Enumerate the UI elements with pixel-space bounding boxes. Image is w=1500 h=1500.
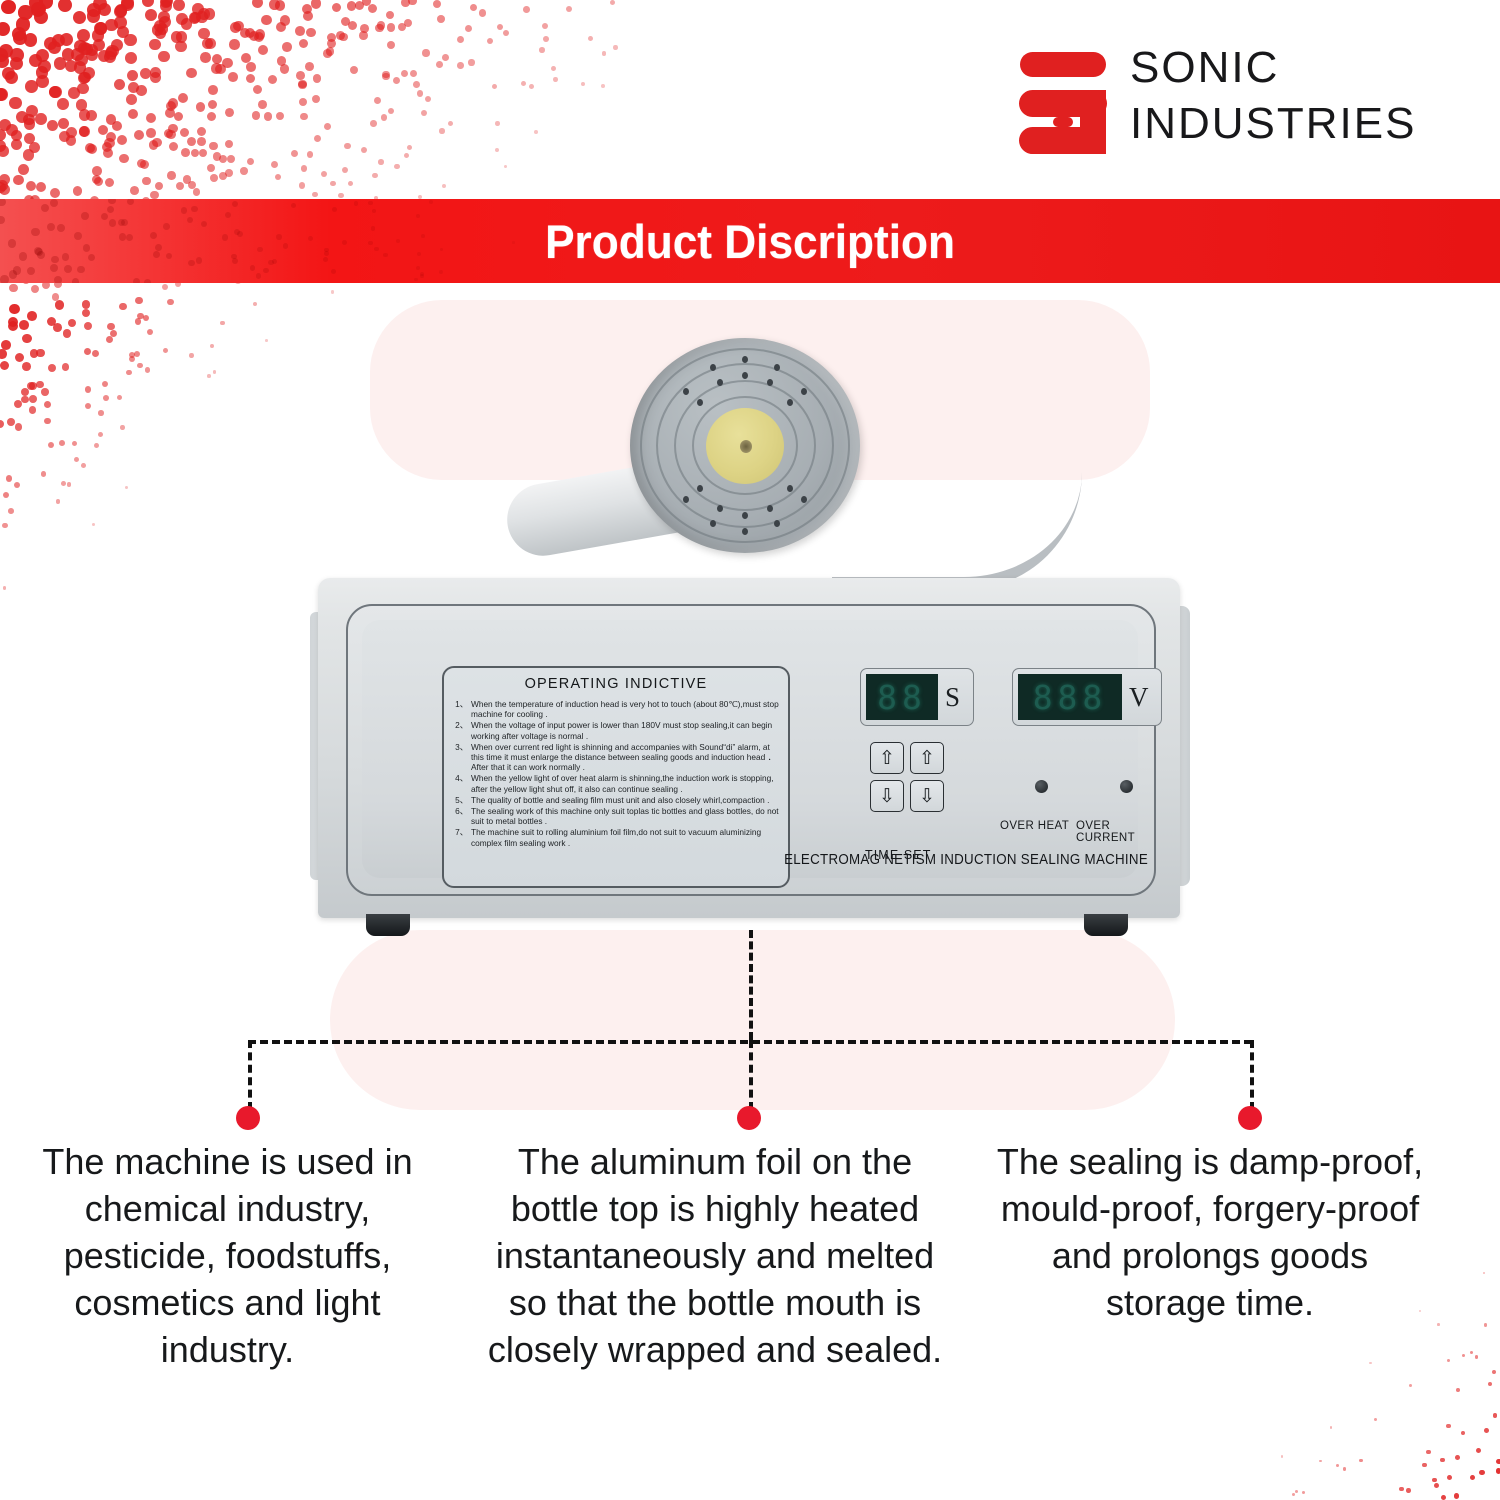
decorative-dot bbox=[5, 71, 18, 84]
instruction-item: 3、When over current red light is shinnin… bbox=[452, 742, 780, 773]
decorative-dot bbox=[62, 48, 75, 61]
decorative-dot bbox=[330, 181, 336, 187]
halftone-dots-mid-left bbox=[0, 300, 330, 600]
decorative-dot bbox=[306, 28, 315, 37]
decorative-dot bbox=[14, 400, 22, 408]
decorative-dot bbox=[275, 174, 282, 181]
decorative-dot bbox=[439, 270, 443, 274]
decorative-dot bbox=[163, 223, 170, 230]
head-vent-hole bbox=[742, 512, 748, 519]
time-set-buttons[interactable]: ⇧ ⇧ ⇩ ⇩ bbox=[870, 742, 962, 834]
decorative-dot bbox=[298, 80, 306, 88]
over-heat-label: OVER HEAT bbox=[1000, 820, 1069, 832]
decorative-dot bbox=[94, 177, 103, 186]
head-vent-hole bbox=[717, 505, 723, 512]
decorative-dot bbox=[362, 0, 371, 6]
decorative-dot bbox=[29, 382, 37, 390]
decorative-dot bbox=[109, 219, 116, 226]
decorative-dot bbox=[0, 199, 6, 206]
decorative-dot bbox=[22, 334, 31, 343]
feature-text-3: The sealing is damp-proof, mould-proof, … bbox=[993, 1138, 1427, 1326]
decorative-dot bbox=[51, 256, 59, 264]
decorative-dot bbox=[276, 22, 286, 32]
decorative-dot bbox=[143, 315, 150, 322]
decorative-dot bbox=[68, 319, 77, 328]
decorative-dot bbox=[105, 47, 117, 59]
decorative-dot bbox=[421, 110, 427, 116]
decorative-dot bbox=[56, 499, 61, 504]
decorative-dot bbox=[137, 159, 146, 168]
decorative-dot bbox=[440, 248, 444, 252]
decorative-dot bbox=[377, 21, 386, 30]
decorative-dot bbox=[6, 124, 18, 136]
decorative-dot bbox=[371, 226, 375, 230]
decorative-dot bbox=[331, 269, 336, 274]
decorative-dot bbox=[36, 381, 44, 389]
decorative-dot bbox=[436, 61, 443, 68]
decorative-dot bbox=[271, 161, 278, 168]
decorative-dot bbox=[336, 31, 345, 40]
decorative-dot bbox=[57, 98, 69, 110]
decorative-dot bbox=[23, 114, 35, 126]
decorative-dot bbox=[8, 508, 14, 514]
decorative-dot bbox=[553, 77, 558, 82]
decorative-dot bbox=[339, 33, 348, 42]
decorative-dot bbox=[299, 182, 305, 188]
machine-body: OPERATING INDICTIVE 1、When the temperatu… bbox=[318, 578, 1180, 918]
decorative-dot bbox=[0, 184, 10, 195]
instruction-text: When the temperature of induction head i… bbox=[471, 699, 780, 719]
decorative-dot bbox=[71, 48, 84, 61]
decorative-dot bbox=[106, 45, 118, 57]
decorative-dot bbox=[323, 257, 328, 262]
decorative-dot bbox=[197, 137, 206, 146]
decorative-dot bbox=[220, 321, 224, 325]
decorative-dot bbox=[207, 112, 216, 121]
decorative-dot bbox=[457, 36, 464, 43]
decorative-dot bbox=[10, 57, 23, 70]
instruction-item: 1、When the temperature of induction head… bbox=[452, 699, 780, 719]
decorative-dot bbox=[176, 31, 187, 42]
decorative-dot bbox=[78, 42, 91, 55]
callout-marker-2 bbox=[737, 1106, 761, 1130]
decorative-dot bbox=[158, 11, 170, 23]
decorative-dot bbox=[166, 253, 173, 260]
decorative-dot bbox=[174, 112, 184, 122]
decorative-dot bbox=[0, 216, 5, 224]
decorative-dot bbox=[280, 15, 290, 25]
decorative-dot bbox=[102, 381, 108, 387]
decorative-dot bbox=[67, 482, 72, 487]
decorative-dot bbox=[291, 203, 296, 208]
callout-marker-1 bbox=[236, 1106, 260, 1130]
decorative-dot bbox=[394, 164, 399, 169]
decorative-dot bbox=[1, 0, 16, 14]
decorative-dot bbox=[25, 80, 38, 93]
decorative-dot bbox=[135, 318, 142, 325]
decorative-dot bbox=[332, 3, 342, 13]
decorative-dot bbox=[52, 293, 60, 301]
decorative-dot bbox=[198, 8, 210, 20]
decorative-dot bbox=[87, 9, 100, 22]
time-display-value: 88 bbox=[877, 681, 927, 714]
decorative-dot bbox=[240, 167, 247, 174]
decorative-dot bbox=[13, 175, 24, 186]
decorative-dot bbox=[534, 130, 538, 134]
decorative-dot bbox=[355, 1, 364, 10]
decorative-dot bbox=[210, 344, 214, 348]
decorative-dot bbox=[276, 234, 281, 239]
over-heat-lamp-icon bbox=[1035, 780, 1048, 793]
decorative-dot bbox=[187, 137, 196, 146]
decorative-dot bbox=[53, 323, 62, 332]
decorative-dot bbox=[8, 317, 18, 327]
decorative-dot bbox=[613, 45, 617, 49]
decorative-dot bbox=[425, 96, 431, 102]
decorative-dot bbox=[175, 41, 186, 52]
decorative-dot bbox=[8, 239, 16, 247]
decorative-dot bbox=[35, 113, 47, 125]
decorative-dot bbox=[283, 243, 288, 248]
decorative-dot bbox=[178, 93, 188, 103]
decorative-dot bbox=[1432, 1478, 1437, 1483]
decorative-dot bbox=[117, 135, 127, 145]
head-vent-hole bbox=[710, 364, 716, 371]
decorative-dot bbox=[181, 18, 193, 30]
decorative-dot bbox=[258, 100, 267, 109]
instructions-title: OPERATING INDICTIVE bbox=[452, 676, 780, 692]
decorative-dot bbox=[154, 20, 166, 32]
induction-sealing-head bbox=[480, 330, 1100, 600]
decorative-dot bbox=[291, 150, 298, 157]
decorative-dot bbox=[201, 221, 207, 227]
decorative-dot bbox=[348, 181, 354, 187]
instruction-number: 4、 bbox=[452, 773, 471, 793]
decorative-dot bbox=[8, 321, 18, 331]
decorative-dot bbox=[104, 138, 114, 148]
decorative-dot bbox=[207, 164, 215, 172]
decorative-dot bbox=[168, 124, 177, 133]
decorative-dot bbox=[36, 182, 46, 192]
decorative-dot bbox=[63, 329, 71, 337]
decorative-dot bbox=[398, 23, 406, 31]
decorative-dot bbox=[208, 85, 218, 95]
decorative-dot bbox=[0, 349, 7, 359]
decorative-dot bbox=[21, 396, 29, 404]
decorative-dot bbox=[34, 10, 48, 24]
decorative-dot bbox=[168, 98, 178, 108]
callout-bracket bbox=[0, 930, 1500, 1120]
decorative-dot bbox=[66, 127, 77, 138]
time-up-2-button[interactable]: ⇧ bbox=[910, 742, 944, 774]
decorative-dot bbox=[26, 181, 36, 191]
decorative-dot bbox=[146, 113, 156, 123]
machine-model-strip: ELECTROMAG NETISM INDUCTION SEALING MACH… bbox=[559, 852, 1148, 868]
decorative-dot bbox=[68, 87, 80, 99]
feature-text-2: The aluminum foil on the bottle top is h… bbox=[473, 1138, 957, 1373]
decorative-dot bbox=[404, 153, 409, 158]
decorative-dot bbox=[121, 0, 134, 11]
decorative-dot bbox=[3, 586, 7, 590]
decorative-dot bbox=[566, 6, 572, 12]
voltage-display-value: 888 bbox=[1033, 681, 1108, 714]
decorative-dot bbox=[145, 9, 157, 21]
decorative-dot bbox=[465, 25, 472, 32]
decorative-dot bbox=[163, 348, 168, 353]
decorative-dot bbox=[26, 105, 38, 117]
decorative-dot bbox=[312, 192, 318, 198]
decorative-dot bbox=[167, 299, 173, 305]
decorative-dot bbox=[344, 143, 350, 149]
decorative-dot bbox=[311, 0, 321, 9]
decorative-dot bbox=[354, 201, 359, 206]
decorative-dot bbox=[36, 75, 49, 88]
decorative-dot bbox=[55, 300, 64, 309]
head-vent-hole bbox=[801, 496, 807, 503]
decorative-dot bbox=[350, 66, 358, 74]
decorative-dot bbox=[542, 23, 548, 29]
decorative-dot bbox=[280, 64, 289, 73]
decorative-dot bbox=[62, 363, 70, 371]
decorative-dot bbox=[232, 201, 238, 207]
decorative-dot bbox=[213, 152, 221, 160]
decorative-dot bbox=[196, 257, 202, 263]
instruction-text: The sealing work of this machine only su… bbox=[471, 806, 780, 826]
decorative-dot bbox=[368, 241, 372, 245]
decorative-dot bbox=[225, 108, 234, 117]
decorative-dot bbox=[374, 97, 381, 104]
decorative-dot bbox=[27, 267, 35, 275]
decorative-dot bbox=[261, 15, 271, 25]
decorative-dot bbox=[1319, 1460, 1322, 1463]
decorative-dot bbox=[9, 97, 21, 109]
decorative-dot bbox=[0, 174, 10, 185]
decorative-dot bbox=[503, 30, 509, 36]
bracket-drop-1 bbox=[248, 1040, 252, 1110]
decorative-dot bbox=[164, 129, 173, 138]
decorative-dot bbox=[219, 155, 227, 163]
decorative-dot bbox=[229, 39, 239, 49]
page-title: Product Discription bbox=[545, 214, 955, 269]
decorative-dot bbox=[314, 135, 321, 142]
decorative-dot bbox=[245, 28, 255, 38]
decorative-dot bbox=[0, 140, 6, 152]
decorative-dot bbox=[181, 207, 187, 213]
decorative-dot bbox=[1447, 1475, 1452, 1480]
decorative-dot bbox=[140, 160, 149, 169]
decorative-dot bbox=[155, 182, 163, 190]
decorative-dot bbox=[210, 174, 218, 182]
brand-name-line2: INDUSTRIES bbox=[1130, 96, 1450, 152]
decorative-dot bbox=[125, 486, 128, 489]
decorative-dot bbox=[176, 182, 184, 190]
decorative-dot bbox=[114, 79, 125, 90]
decorative-dot bbox=[342, 240, 347, 245]
decorative-dot bbox=[52, 34, 65, 47]
decorative-dot bbox=[417, 252, 421, 256]
decorative-dot bbox=[59, 131, 70, 142]
decorative-dot bbox=[497, 24, 504, 31]
decorative-dot bbox=[36, 349, 45, 358]
decorative-dot bbox=[80, 43, 93, 56]
decorative-dot bbox=[166, 101, 176, 111]
decorative-dot bbox=[155, 244, 162, 251]
decorative-dot bbox=[1292, 1493, 1295, 1496]
feature-column-2: The aluminum foil on the bottle top is h… bbox=[455, 1138, 975, 1458]
decorative-dot bbox=[50, 199, 58, 207]
decorative-dot bbox=[54, 276, 62, 283]
time-display: 88 S bbox=[860, 668, 974, 726]
sonic-s-logo-icon bbox=[1018, 50, 1108, 158]
voltage-display-unit: V bbox=[1129, 682, 1149, 713]
decorative-dot bbox=[180, 128, 189, 137]
instruction-number: 1、 bbox=[452, 699, 471, 719]
decorative-dot bbox=[44, 37, 57, 50]
decorative-dot bbox=[387, 23, 395, 31]
decorative-dot bbox=[252, 111, 260, 119]
decorative-dot bbox=[299, 98, 307, 106]
decorative-dot bbox=[321, 171, 327, 177]
decorative-dot bbox=[0, 182, 6, 193]
decorative-dot bbox=[479, 9, 486, 16]
decorative-dot bbox=[263, 268, 269, 274]
decorative-dot bbox=[225, 212, 231, 218]
decorative-dot bbox=[137, 363, 143, 369]
decorative-dot bbox=[130, 186, 139, 195]
decorative-dot bbox=[1, 340, 11, 350]
decorative-dot bbox=[269, 0, 280, 10]
decorative-dot bbox=[601, 84, 605, 88]
feature-column-3: The sealing is damp-proof, mould-proof, … bbox=[975, 1138, 1445, 1458]
head-center-disc bbox=[706, 408, 784, 484]
decorative-dot bbox=[13, 31, 27, 45]
decorative-dot bbox=[523, 6, 530, 13]
decorative-dot bbox=[0, 145, 9, 157]
decorative-dot bbox=[387, 41, 395, 49]
decorative-dot bbox=[327, 39, 336, 48]
decorative-dot bbox=[72, 441, 78, 447]
decorative-dot bbox=[41, 204, 49, 212]
decorative-dot bbox=[378, 159, 384, 165]
decorative-dot bbox=[82, 309, 90, 317]
decorative-dot bbox=[307, 151, 314, 158]
decorative-dot bbox=[48, 41, 61, 54]
decorative-dot bbox=[29, 395, 37, 403]
decorative-dot bbox=[126, 370, 132, 376]
decorative-dot bbox=[313, 74, 321, 82]
decorative-dot bbox=[44, 418, 51, 425]
decorative-dot bbox=[202, 38, 213, 49]
decorative-dot bbox=[197, 127, 206, 136]
decorative-dot bbox=[18, 164, 29, 175]
decorative-dot bbox=[227, 155, 235, 163]
feature-captions: The machine is used in chemical industry… bbox=[0, 1138, 1500, 1458]
decorative-dot bbox=[114, 16, 127, 29]
decorative-dot bbox=[457, 62, 463, 68]
decorative-dot bbox=[58, 118, 69, 129]
decorative-dot bbox=[0, 48, 8, 62]
decorative-dot bbox=[1434, 1483, 1439, 1488]
decorative-dot bbox=[228, 72, 238, 82]
decorative-dot bbox=[160, 0, 172, 8]
decorative-dot bbox=[41, 388, 49, 396]
brand-name-line1: SONIC bbox=[1130, 40, 1450, 96]
decorative-dot bbox=[94, 22, 107, 35]
decorative-dot bbox=[7, 418, 15, 426]
time-down-2-button[interactable]: ⇩ bbox=[910, 780, 944, 812]
decorative-dot bbox=[372, 173, 377, 178]
decorative-dot bbox=[77, 83, 89, 95]
decorative-dot bbox=[487, 38, 494, 45]
decorative-dot bbox=[303, 11, 313, 21]
decorative-dot bbox=[22, 362, 31, 371]
decorative-dot bbox=[157, 23, 169, 35]
decorative-dot bbox=[128, 109, 138, 119]
decorative-dot bbox=[282, 42, 292, 52]
decorative-dot bbox=[86, 44, 98, 56]
decorative-dot bbox=[62, 253, 70, 261]
decorative-dot bbox=[27, 382, 35, 390]
decorative-dot bbox=[146, 128, 156, 138]
decorative-dot bbox=[136, 85, 147, 96]
decorative-dot bbox=[190, 12, 202, 24]
decorative-dot bbox=[410, 70, 417, 77]
voltage-display-lcd: 888 bbox=[1018, 674, 1122, 720]
decorative-dot bbox=[105, 178, 114, 187]
decorative-dot bbox=[468, 59, 474, 65]
decorative-dot bbox=[504, 165, 508, 169]
decorative-dot bbox=[103, 395, 109, 401]
decorative-dot bbox=[94, 443, 99, 448]
decorative-dot bbox=[49, 86, 61, 98]
decorative-dot bbox=[199, 149, 207, 157]
instruction-item: 4、When the yellow light of over heat ala… bbox=[452, 773, 780, 793]
decorative-dot bbox=[106, 336, 113, 343]
decorative-dot bbox=[104, 51, 116, 63]
decorative-dot bbox=[161, 0, 173, 7]
decorative-dot bbox=[1336, 1464, 1339, 1467]
decorative-dot bbox=[437, 15, 445, 23]
decorative-dot bbox=[58, 0, 72, 12]
decorative-dot bbox=[23, 149, 34, 160]
decorative-dot bbox=[393, 77, 400, 84]
decorative-dot bbox=[0, 44, 13, 58]
decorative-dot bbox=[135, 297, 142, 304]
decorative-dot bbox=[331, 290, 334, 293]
decorative-dot bbox=[29, 142, 40, 153]
decorative-dot bbox=[193, 188, 201, 196]
decorative-dot bbox=[442, 54, 449, 61]
time-down-1-button[interactable]: ⇩ bbox=[870, 780, 904, 812]
decorative-dot bbox=[413, 81, 420, 88]
decorative-dot bbox=[47, 317, 56, 326]
decorative-dot bbox=[1479, 1470, 1484, 1475]
time-up-1-button[interactable]: ⇧ bbox=[870, 742, 904, 774]
decorative-dot bbox=[1470, 1475, 1475, 1480]
instruction-item: 2、When the voltage of input power is low… bbox=[452, 720, 780, 740]
decorative-dot bbox=[83, 244, 91, 252]
decorative-dot bbox=[19, 320, 29, 330]
decorative-dot bbox=[215, 64, 225, 74]
decorative-dot bbox=[127, 70, 138, 81]
sealing-machine: OPERATING INDICTIVE 1、When the temperatu… bbox=[318, 578, 1180, 926]
decorative-dot bbox=[1441, 1495, 1446, 1500]
decorative-dot bbox=[82, 300, 91, 309]
decorative-dot bbox=[79, 72, 91, 84]
decorative-dot bbox=[87, 144, 97, 154]
decorative-dot bbox=[78, 72, 90, 84]
decorative-dot bbox=[252, 0, 263, 8]
